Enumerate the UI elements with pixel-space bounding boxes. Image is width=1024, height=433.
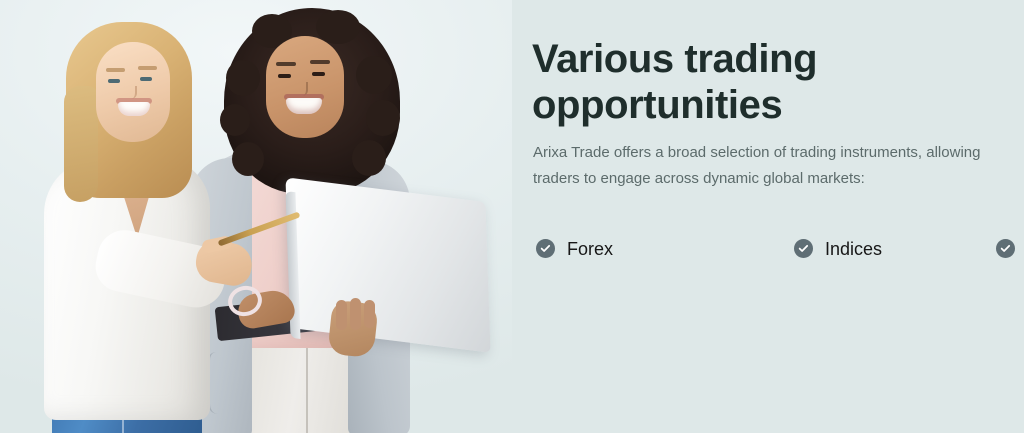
- curly-woman-pants-seam: [306, 338, 308, 433]
- hero-photo: [0, 0, 512, 433]
- curly-woman-hair-curl: [366, 100, 400, 136]
- content-column: Various trading opportunities Arixa Trad…: [532, 0, 1000, 433]
- curly-woman-hair-curl: [226, 60, 260, 96]
- blonde-woman-eyebrow-left: [106, 68, 125, 72]
- curly-woman-hair-curl: [356, 56, 392, 94]
- curly-woman-eyebrow-left: [276, 62, 296, 66]
- curly-woman-hair-curl: [316, 10, 360, 44]
- curly-woman-pocket: [208, 352, 250, 414]
- curly-woman-eye-left: [278, 74, 291, 78]
- list-item-indices: Indices: [794, 238, 996, 260]
- list-item-label: Forex: [567, 238, 613, 260]
- blonde-woman-smile: [118, 102, 150, 116]
- blonde-woman-eye-right: [140, 77, 152, 81]
- list-item-label: Indices: [825, 238, 882, 260]
- curly-woman-eyebrow-right: [310, 60, 330, 64]
- check-circle-icon: [996, 239, 1015, 258]
- blonde-woman-eye-left: [108, 79, 120, 83]
- laptop-lid: [285, 177, 490, 352]
- trading-opportunities-banner: Various trading opportunities Arixa Trad…: [0, 0, 1024, 433]
- trading-instruments-list: Forex Indices Cryptocurrencies: [536, 230, 996, 267]
- blonde-woman-hair-strand: [64, 86, 98, 202]
- curly-woman-hair-curl: [220, 104, 250, 136]
- intro-paragraph: Arixa Trade offers a broad selection of …: [533, 140, 995, 192]
- list-item-cryptocurrencies: Cryptocurrencies: [996, 238, 1024, 260]
- check-circle-icon: [536, 239, 555, 258]
- curly-woman-hair-curl: [352, 140, 386, 176]
- curly-woman-finger: [364, 300, 375, 328]
- curly-woman-finger: [336, 300, 347, 330]
- curly-woman-finger: [350, 298, 361, 330]
- curly-woman-hair-curl: [232, 142, 264, 176]
- blonde-woman-eyebrow-right: [138, 66, 157, 70]
- list-item-forex: Forex: [536, 238, 794, 260]
- curly-woman-eye-right: [312, 72, 325, 76]
- page-title: Various trading opportunities: [532, 36, 952, 128]
- photo-subjects: [0, 0, 512, 433]
- check-circle-icon: [794, 239, 813, 258]
